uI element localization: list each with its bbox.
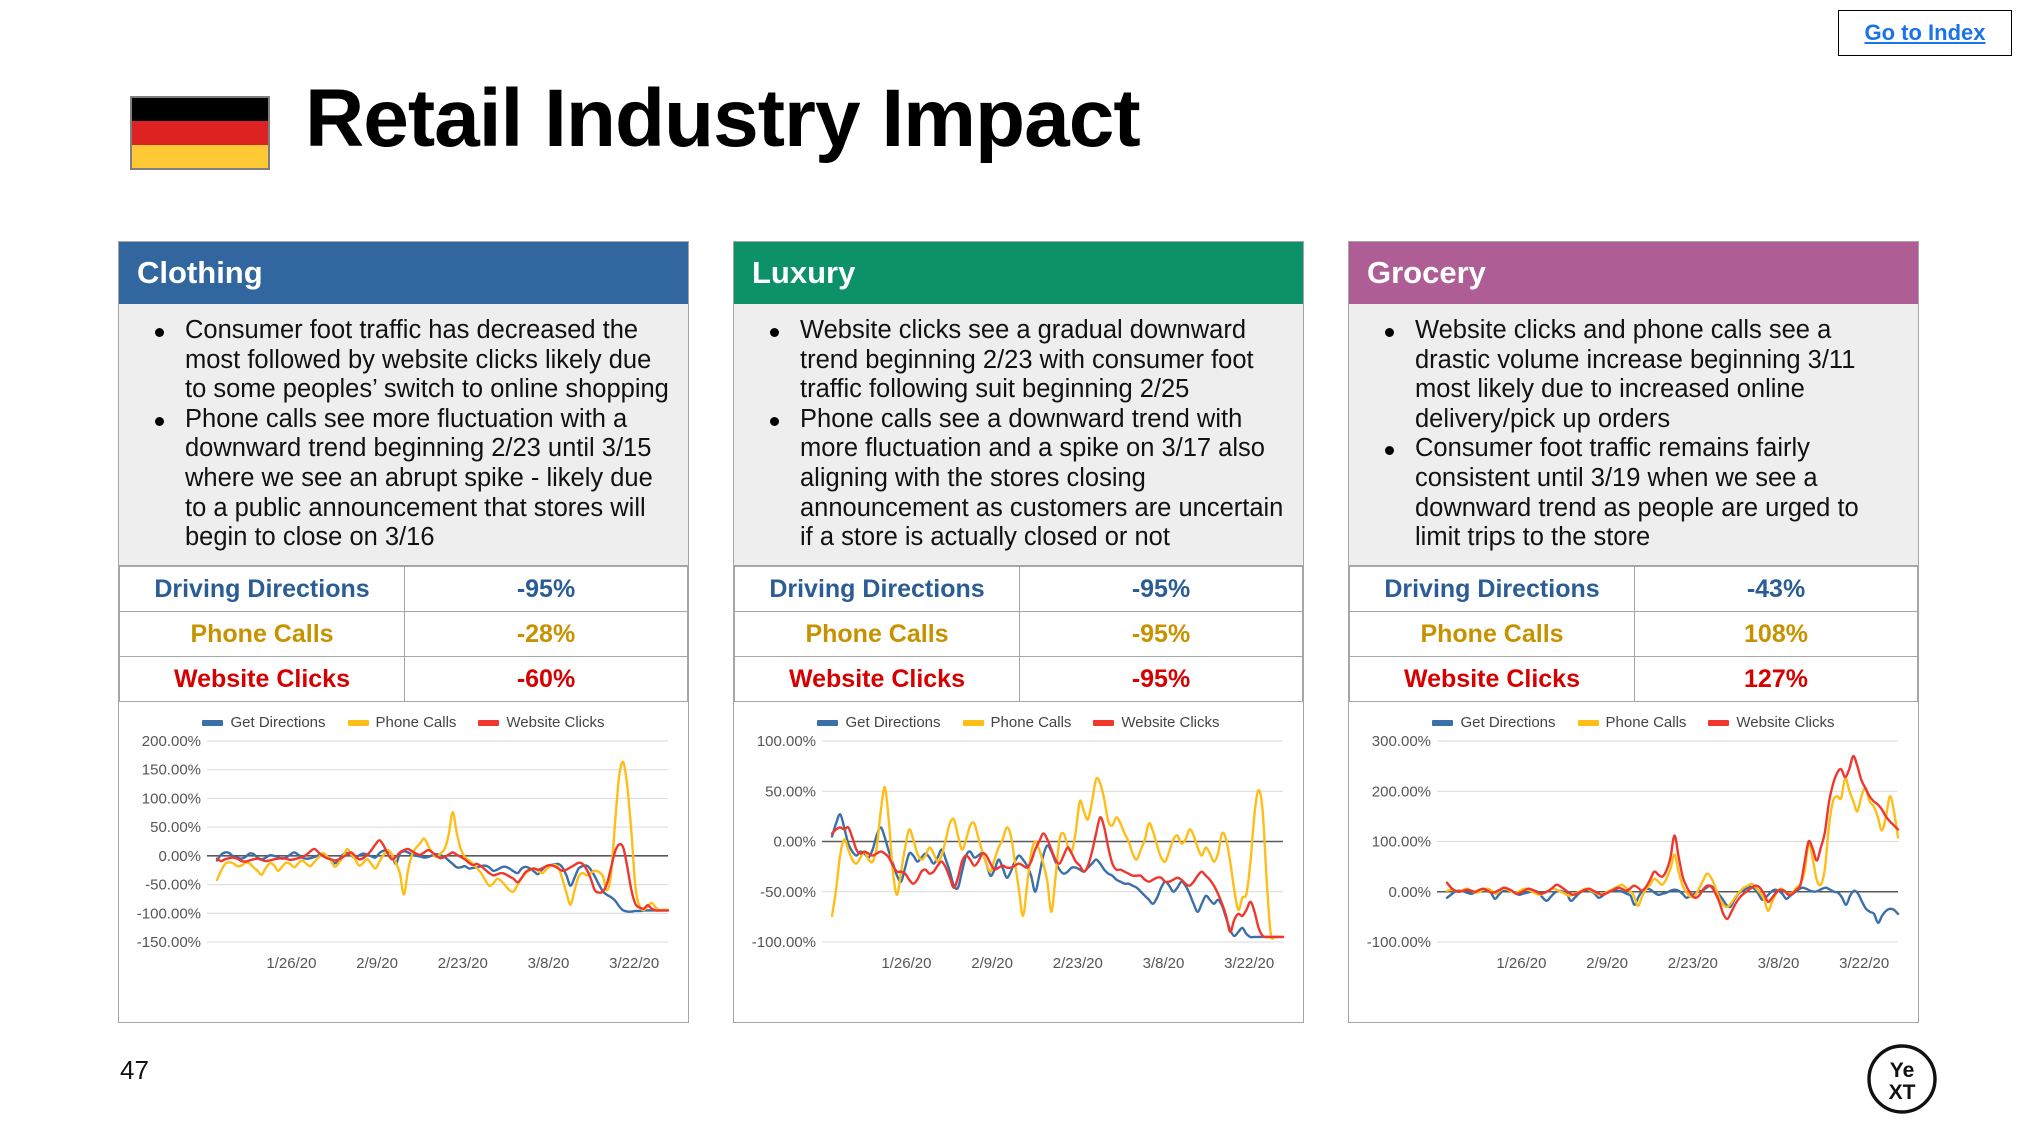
metric-label: Website Clicks	[735, 657, 1020, 702]
legend-item: Phone Calls	[348, 714, 457, 731]
y-axis-tick-label: 100.00%	[757, 733, 816, 750]
legend-label: Get Directions	[230, 714, 325, 731]
card-title: Luxury	[752, 255, 855, 291]
chart-legend: Get DirectionsPhone CallsWebsite Clicks	[1355, 708, 1912, 733]
series-line-get-directions	[217, 851, 668, 912]
go-to-index-link[interactable]: Go to Index	[1865, 20, 1986, 46]
page-number: 47	[120, 1055, 149, 1086]
metric-value: -60%	[405, 657, 688, 702]
metric-value: 127%	[1635, 657, 1918, 702]
card-insights: Consumer foot traffic has decreased the …	[119, 304, 688, 566]
insight-bullet: Phone calls see a downward trend with mo…	[752, 405, 1287, 553]
page-title: Retail Industry Impact	[305, 78, 1140, 160]
y-axis-tick-label: 0.00%	[773, 834, 816, 851]
table-row: Website Clicks-95%	[735, 657, 1303, 702]
legend-swatch-icon	[202, 720, 223, 726]
chart-legend: Get DirectionsPhone CallsWebsite Clicks	[125, 708, 682, 733]
card-header-luxury: Luxury	[734, 242, 1303, 304]
x-axis-tick-label: 3/22/20	[1224, 955, 1274, 972]
legend-item: Website Clicks	[1708, 714, 1834, 731]
legend-label: Website Clicks	[1121, 714, 1219, 731]
metric-value: -43%	[1635, 567, 1918, 612]
metric-value: -95%	[1020, 657, 1303, 702]
card-header-grocery: Grocery	[1349, 242, 1918, 304]
go-to-index-box[interactable]: Go to Index	[1838, 10, 2012, 56]
x-axis-tick-label: 1/26/20	[881, 955, 931, 972]
legend-swatch-icon	[1093, 720, 1114, 726]
y-axis-tick-label: 100.00%	[1372, 834, 1431, 851]
card-insights: Website clicks see a gradual downward tr…	[734, 304, 1303, 566]
x-axis-tick-label: 2/9/20	[356, 955, 398, 972]
metric-label: Driving Directions	[735, 567, 1020, 612]
y-axis-tick-label: 200.00%	[1372, 783, 1431, 800]
flag-band-gold	[132, 145, 268, 168]
card-title: Grocery	[1367, 255, 1486, 291]
trend-chart: Get DirectionsPhone CallsWebsite Clicks3…	[1349, 702, 1918, 986]
legend-swatch-icon	[963, 720, 984, 726]
x-axis-tick-label: 3/22/20	[1839, 955, 1889, 972]
series-line-website-clicks	[1447, 756, 1898, 919]
y-axis-tick-label: -100.00%	[1367, 934, 1431, 951]
germany-flag-icon	[130, 96, 270, 170]
series-line-phone-calls	[832, 778, 1283, 939]
metric-label: Phone Calls	[735, 612, 1020, 657]
x-axis-tick-label: 2/23/20	[1668, 955, 1718, 972]
legend-item: Get Directions	[202, 714, 325, 731]
x-axis-tick-label: 3/8/20	[528, 955, 570, 972]
insight-bullet: Phone calls see more fluctuation with a …	[137, 405, 672, 553]
y-axis-tick-label: 200.00%	[142, 733, 201, 750]
metrics-table: Driving Directions-43%Phone Calls108%Web…	[1349, 566, 1918, 702]
table-row: Phone Calls-95%	[735, 612, 1303, 657]
card-insights: Website clicks and phone calls see a dra…	[1349, 304, 1918, 566]
metric-value: -95%	[1020, 612, 1303, 657]
legend-item: Get Directions	[1432, 714, 1555, 731]
y-axis-tick-label: 300.00%	[1372, 733, 1431, 750]
metric-label: Driving Directions	[120, 567, 405, 612]
x-axis-tick-label: 2/9/20	[1586, 955, 1628, 972]
trend-chart: Get DirectionsPhone CallsWebsite Clicks1…	[734, 702, 1303, 986]
legend-label: Phone Calls	[1606, 714, 1687, 731]
insight-list: Website clicks see a gradual downward tr…	[752, 316, 1287, 553]
y-axis-tick-label: 100.00%	[142, 790, 201, 807]
category-card-luxury: LuxuryWebsite clicks see a gradual downw…	[733, 241, 1304, 1023]
category-card-clothing: ClothingConsumer foot traffic has decrea…	[118, 241, 689, 1023]
chart-plot-area: 300.00%200.00%100.00%0.00%-100.00%1/26/2…	[1355, 733, 1912, 986]
flag-band-red	[132, 121, 268, 144]
x-axis-tick-label: 3/8/20	[1143, 955, 1185, 972]
metric-label: Website Clicks	[1350, 657, 1635, 702]
legend-swatch-icon	[1708, 720, 1729, 726]
legend-swatch-icon	[478, 720, 499, 726]
y-axis-tick-label: 50.00%	[765, 783, 816, 800]
y-axis-tick-label: 150.00%	[142, 762, 201, 779]
legend-item: Website Clicks	[1093, 714, 1219, 731]
metric-value: -95%	[405, 567, 688, 612]
legend-item: Website Clicks	[478, 714, 604, 731]
category-card-grocery: GroceryWebsite clicks and phone calls se…	[1348, 241, 1919, 1023]
legend-label: Phone Calls	[991, 714, 1072, 731]
y-axis-tick-label: -100.00%	[752, 934, 816, 951]
legend-swatch-icon	[348, 720, 369, 726]
metric-label: Driving Directions	[1350, 567, 1635, 612]
metric-value: -28%	[405, 612, 688, 657]
legend-swatch-icon	[1432, 720, 1453, 726]
legend-label: Phone Calls	[376, 714, 457, 731]
metrics-table: Driving Directions-95%Phone Calls-95%Web…	[734, 566, 1303, 702]
insight-list: Consumer foot traffic has decreased the …	[137, 316, 672, 553]
table-row: Driving Directions-43%	[1350, 567, 1918, 612]
legend-item: Get Directions	[817, 714, 940, 731]
y-axis-tick-label: 0.00%	[158, 848, 201, 865]
metric-value: -95%	[1020, 567, 1303, 612]
svg-text:Ye: Ye	[1890, 1059, 1915, 1082]
legend-label: Get Directions	[845, 714, 940, 731]
y-axis-tick-label: -100.00%	[137, 905, 201, 922]
y-axis-tick-label: 50.00%	[150, 819, 201, 836]
legend-item: Phone Calls	[1578, 714, 1687, 731]
legend-item: Phone Calls	[963, 714, 1072, 731]
insight-list: Website clicks and phone calls see a dra…	[1367, 316, 1902, 553]
table-row: Driving Directions-95%	[120, 567, 688, 612]
chart-plot-area: 100.00%50.00%0.00%-50.00%-100.00%1/26/20…	[740, 733, 1297, 986]
metric-value: 108%	[1635, 612, 1918, 657]
x-axis-tick-label: 2/23/20	[1053, 955, 1103, 972]
x-axis-tick-label: 2/23/20	[438, 955, 488, 972]
card-title: Clothing	[137, 255, 263, 291]
table-row: Phone Calls108%	[1350, 612, 1918, 657]
metric-label: Phone Calls	[1350, 612, 1635, 657]
insight-bullet: Website clicks see a gradual downward tr…	[752, 316, 1287, 405]
table-row: Driving Directions-95%	[735, 567, 1303, 612]
legend-label: Get Directions	[1460, 714, 1555, 731]
table-row: Phone Calls-28%	[120, 612, 688, 657]
chart-plot-area: 200.00%150.00%100.00%50.00%0.00%-50.00%-…	[125, 733, 682, 986]
insight-bullet: Consumer foot traffic remains fairly con…	[1367, 434, 1902, 552]
svg-text:XT: XT	[1889, 1081, 1916, 1104]
y-axis-tick-label: -50.00%	[145, 877, 201, 894]
y-axis-tick-label: 0.00%	[1388, 884, 1431, 901]
insight-bullet: Website clicks and phone calls see a dra…	[1367, 316, 1902, 434]
metrics-table: Driving Directions-95%Phone Calls-28%Web…	[119, 566, 688, 702]
x-axis-tick-label: 3/22/20	[609, 955, 659, 972]
y-axis-tick-label: -50.00%	[760, 884, 816, 901]
legend-swatch-icon	[1578, 720, 1599, 726]
yext-logo-icon: Ye XT	[1866, 1043, 1938, 1115]
table-row: Website Clicks-60%	[120, 657, 688, 702]
x-axis-tick-label: 3/8/20	[1758, 955, 1800, 972]
card-header-clothing: Clothing	[119, 242, 688, 304]
metric-label: Website Clicks	[120, 657, 405, 702]
legend-label: Website Clicks	[1736, 714, 1834, 731]
chart-legend: Get DirectionsPhone CallsWebsite Clicks	[740, 708, 1297, 733]
trend-chart: Get DirectionsPhone CallsWebsite Clicks2…	[119, 702, 688, 986]
y-axis-tick-label: -150.00%	[137, 934, 201, 951]
legend-swatch-icon	[817, 720, 838, 726]
x-axis-tick-label: 2/9/20	[971, 955, 1013, 972]
flag-band-black	[132, 98, 268, 121]
metric-label: Phone Calls	[120, 612, 405, 657]
insight-bullet: Consumer foot traffic has decreased the …	[137, 316, 672, 405]
legend-label: Website Clicks	[506, 714, 604, 731]
table-row: Website Clicks127%	[1350, 657, 1918, 702]
x-axis-tick-label: 1/26/20	[266, 955, 316, 972]
x-axis-tick-label: 1/26/20	[1496, 955, 1546, 972]
